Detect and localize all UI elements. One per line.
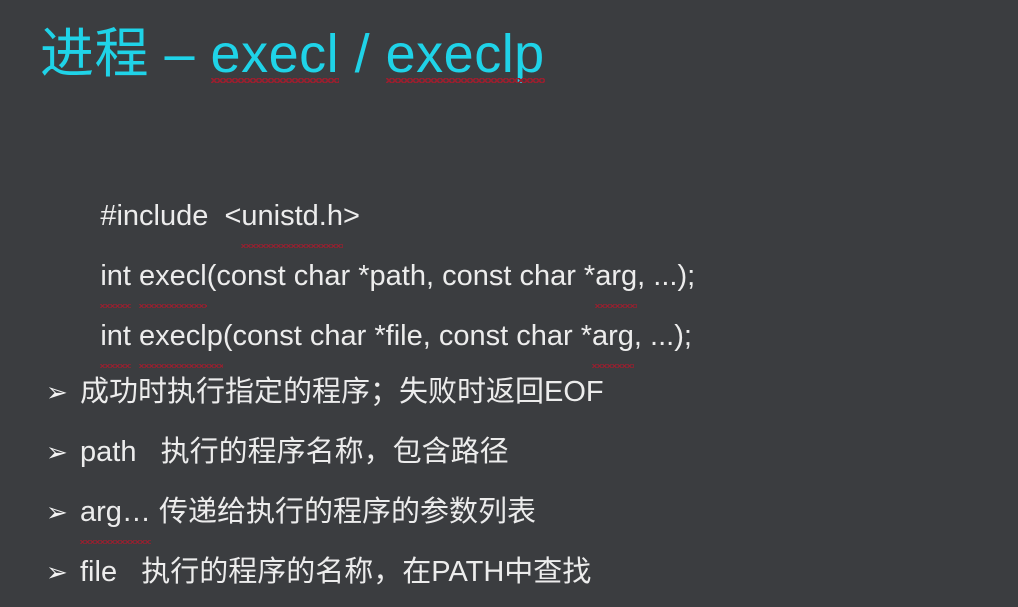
title-term-execl: execl xyxy=(211,24,340,84)
title-separator: / xyxy=(339,24,386,84)
title-prefix-text: 进程 – xyxy=(40,24,211,84)
execl-return-type: int xyxy=(100,246,131,306)
list-item-lead: file xyxy=(80,556,117,588)
list-item-file: ➢ file 执行的程序的名称，在PATH中查找 xyxy=(46,542,966,602)
list-item-label: path 执行的程序名称，包含路径 xyxy=(80,422,966,482)
arrow-bullet-icon: ➢ xyxy=(46,542,80,602)
execlp-arg-param: arg xyxy=(592,306,634,366)
page-title: 进程 – execl / execlp xyxy=(40,24,545,84)
execlp-params-first: (const char *file, const char * xyxy=(223,320,592,352)
list-item-label: 成功时执行指定的程序；失败时返回EOF xyxy=(80,362,966,422)
execl-arg-param: arg xyxy=(595,246,637,306)
code-line-include: #include <unistd.h> xyxy=(52,126,952,186)
code-block: #include <unistd.h> int execl(const char… xyxy=(52,126,952,306)
arrow-bullet-icon: ➢ xyxy=(46,362,80,422)
list-item-lead-misspelled: arg… xyxy=(80,482,151,542)
execl-function-name: execl xyxy=(139,246,207,306)
presentation-slide: 进程 – execl / execlp #include <unistd.h> … xyxy=(0,0,1018,607)
execlp-space xyxy=(131,320,139,352)
execlp-function-name: execlp xyxy=(139,306,223,366)
list-item-body: 传递给执行的程序的参数列表 xyxy=(151,496,536,528)
execl-space xyxy=(131,260,139,292)
list-item-body: 执行的程序的名称，在PATH中查找 xyxy=(117,556,591,588)
list-item-path: ➢ path 执行的程序名称，包含路径 xyxy=(46,422,966,482)
execl-params-tail: , ...); xyxy=(637,260,695,292)
include-close-bracket: > xyxy=(343,200,360,232)
list-item-body: 执行的程序名称，包含路径 xyxy=(136,436,508,468)
arrow-bullet-icon: ➢ xyxy=(46,482,80,542)
bullet-list: ➢ 成功时执行指定的程序；失败时返回EOF ➢ path 执行的程序名称，包含路… xyxy=(46,362,966,602)
include-directive-text: #include < xyxy=(100,200,241,232)
execl-params-first: (const char *path, const char * xyxy=(207,260,595,292)
execlp-params-tail: , ...); xyxy=(634,320,692,352)
execlp-return-type: int xyxy=(100,306,131,366)
arrow-bullet-icon: ➢ xyxy=(46,422,80,482)
list-item-arg: ➢ arg… 传递给执行的程序的参数列表 xyxy=(46,482,966,542)
list-item-return-value: ➢ 成功时执行指定的程序；失败时返回EOF xyxy=(46,362,966,422)
list-item-lead: path xyxy=(80,436,136,468)
title-term-execlp: execlp xyxy=(386,24,545,84)
list-item-label: arg… 传递给执行的程序的参数列表 xyxy=(80,482,966,542)
list-item-body: 成功时执行指定的程序；失败时返回EOF xyxy=(80,376,604,408)
list-item-label: file 执行的程序的名称，在PATH中查找 xyxy=(80,542,966,602)
include-header-name: unistd.h xyxy=(241,186,343,246)
